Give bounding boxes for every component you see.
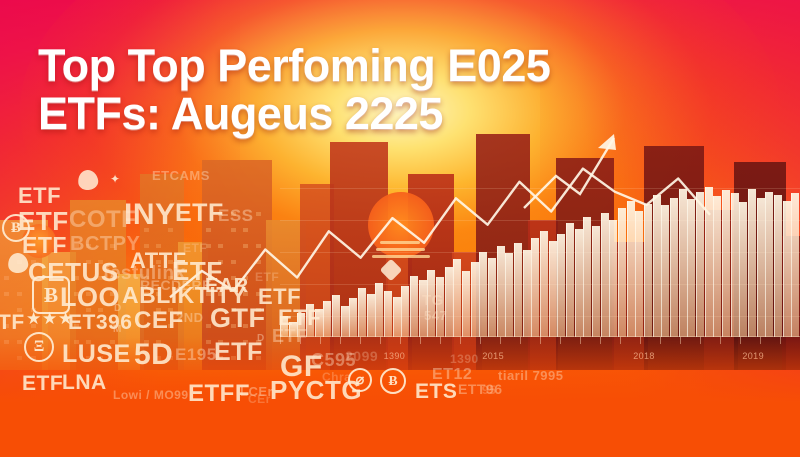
star-icon: ★ (26, 310, 43, 327)
chart-bar (627, 201, 635, 338)
headline-line-2: ETFs: Augeus 2225 (38, 92, 778, 136)
chart-bar (549, 241, 557, 337)
floating-token: Lowi / MO99 (113, 388, 189, 402)
chart-bar (531, 238, 539, 337)
chart-bar (696, 192, 704, 338)
floating-token: ESS (218, 206, 254, 226)
chart-bar (661, 205, 669, 337)
chart-bar (670, 198, 678, 338)
chart-bar (653, 195, 661, 338)
building-window (231, 260, 236, 264)
headline-line-1: Top Top Perfoming E025 (38, 44, 778, 88)
chart-bar (731, 193, 739, 337)
floating-token: 2099 (345, 348, 378, 364)
chart-bar (384, 291, 392, 338)
floating-token: 2ND (176, 310, 204, 325)
chart-bar (367, 294, 375, 338)
floating-token: D (114, 303, 122, 314)
floating-token: TF (0, 311, 25, 335)
chart-bar (557, 234, 565, 338)
floating-token: ETF (272, 326, 308, 347)
sparkle-icon: ✦ (110, 173, 122, 185)
floating-token: LNA (62, 371, 107, 395)
chart-bar (791, 193, 799, 337)
chart-bar (445, 267, 453, 338)
chart-bar (783, 201, 791, 338)
chart-bar (471, 262, 479, 337)
chart-bar (583, 217, 591, 337)
chart-bar (332, 295, 340, 337)
chart-bar (601, 213, 609, 338)
building-window (256, 212, 261, 216)
chart-bar (739, 202, 747, 337)
floating-token: ETF (22, 372, 63, 396)
chart-bar (453, 259, 461, 337)
floating-token: LUSE (62, 340, 131, 369)
floating-token: tiaril 7995 (498, 368, 564, 383)
floating-token: ETCAMS (152, 168, 210, 183)
chart-bar (401, 286, 409, 337)
bitcoin-icon: Ƀ (2, 214, 30, 242)
building-window (17, 292, 22, 296)
chart-bar (722, 190, 730, 337)
floating-token: ETF (255, 270, 279, 284)
chart-bar (592, 226, 600, 337)
chart-bar (323, 301, 331, 337)
coin-icon: Ξ (24, 332, 54, 362)
chart-bar (774, 195, 782, 338)
chart-bar (393, 297, 401, 338)
chart-bar (514, 243, 522, 338)
chart-bar (687, 199, 695, 337)
chart-bar (713, 196, 721, 337)
chart-bar (705, 187, 713, 337)
chart-bar (575, 229, 583, 337)
building-window (243, 244, 248, 248)
chart-bar (757, 198, 765, 338)
chart-bar (748, 189, 756, 338)
chart-bar (410, 276, 418, 338)
chart-bar (497, 246, 505, 338)
star-icon: ★ (58, 310, 75, 327)
chart-gridline (280, 188, 800, 189)
floating-token: CEr (248, 392, 271, 406)
headline-block: Top Top Perfoming E025 ETFs: Augeus 2225 (38, 44, 778, 136)
floating-token: D (257, 333, 265, 344)
star-icon: ★ (42, 310, 59, 327)
chart-bar (566, 223, 574, 337)
floating-token: ETF (22, 232, 67, 259)
building-window (256, 244, 261, 248)
chart-bar (375, 283, 383, 337)
floating-token: ETF (175, 199, 224, 228)
floating-token: INY (124, 198, 176, 232)
building-window (4, 292, 9, 296)
coin-slash-icon: ⌀ (348, 368, 372, 392)
floating-token: E195 (175, 345, 217, 365)
floating-token: 95 (482, 383, 496, 397)
building-window (243, 228, 248, 232)
building-window (206, 228, 211, 232)
floating-token: 1390 (450, 352, 479, 366)
building-window (218, 244, 223, 248)
floating-token: 547 (424, 308, 447, 323)
chart-bar (358, 288, 366, 338)
floating-token: ET396 (68, 311, 132, 335)
chart-bar (609, 220, 617, 337)
chart-bar (505, 253, 513, 337)
bitcoin-icon: Ƀ (380, 368, 406, 394)
banner-image: 1390201520182019 ETFETCAMSETFCOTFINYETFE… (0, 0, 800, 457)
chart-bar (765, 192, 773, 338)
chart-bar (679, 189, 687, 338)
floating-token: 5D (134, 338, 173, 372)
floating-token: M (113, 324, 122, 335)
floating-token: GTF (210, 303, 266, 334)
chart-bar (635, 211, 643, 337)
chart-bar (523, 250, 531, 337)
floating-token: TG (422, 292, 444, 309)
chart-bar (644, 204, 652, 338)
chart-bar (488, 258, 496, 338)
chart-bar (341, 306, 349, 338)
chart-bar (479, 252, 487, 338)
chart-bar (349, 298, 357, 337)
floating-token: Chra (322, 370, 351, 384)
chart-bar (540, 231, 548, 338)
building-window (231, 228, 236, 232)
floating-token: ETF (183, 241, 207, 255)
building-window (4, 276, 9, 280)
floating-token: ETF (214, 338, 263, 367)
chart-bar (618, 208, 626, 337)
chart-bar (462, 271, 470, 337)
